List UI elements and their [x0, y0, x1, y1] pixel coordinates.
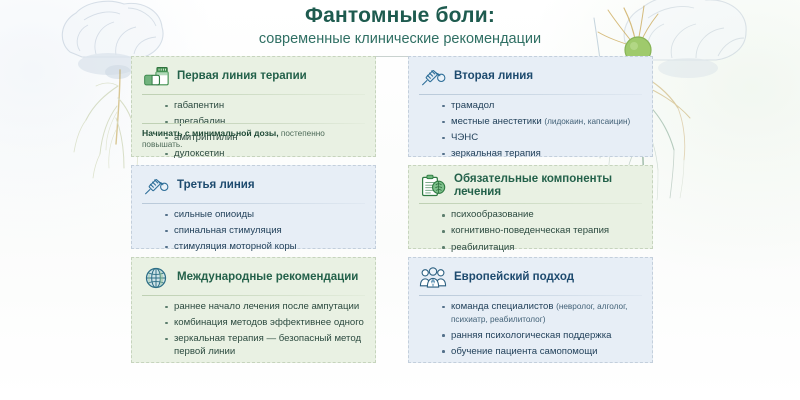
syringe-icon — [142, 173, 170, 199]
card-third-line: Третья линия сильные опиоиды спинальная … — [131, 165, 376, 249]
list-item-text: зеркальная терапия — [451, 148, 541, 159]
list-item: психообразование — [442, 209, 642, 222]
list-item-text: ранняя психологическая поддержка — [451, 330, 611, 341]
card-title: Вторая линия — [454, 70, 533, 83]
card-second-line: Вторая линия трамадол местные анестетики… — [408, 56, 653, 157]
list-item: трамадол — [442, 100, 642, 113]
list-item-text: обучение пациента самопомощи — [451, 346, 598, 357]
card-international-recommendations: Международные рекомендации раннее начало… — [131, 257, 376, 363]
card-first-line-therapy: Первая линия терапии габапентин прегабал… — [131, 56, 376, 157]
list-item-text: реабилитация — [451, 242, 515, 253]
page-subtitle: современные клинические рекомендации — [0, 31, 800, 48]
card-bullet-list: команда специалистов (невролог, алголог,… — [419, 301, 642, 358]
card-european-approach: Европейский подход команда специалистов … — [408, 257, 653, 363]
list-item-text: команда специалистов — [451, 301, 556, 312]
card-header: Обязательные компоненты лечения — [419, 173, 642, 203]
list-item: ЧЭНС — [442, 132, 642, 145]
list-item: стимуляция моторной коры — [165, 241, 365, 254]
list-item: комбинация методов эффективнее одного — [165, 317, 365, 330]
card-title: Третья линия — [177, 179, 255, 192]
medical-team-icon — [419, 265, 447, 291]
list-item: габапентин — [165, 100, 365, 113]
list-item: реабилитация — [442, 242, 642, 255]
list-item: ранняя психологическая поддержка — [442, 330, 642, 343]
card-title-divider — [142, 295, 365, 296]
card-note: Начинать с минимальной дозы, постепенно … — [142, 123, 365, 150]
card-title: Обязательные компоненты лечения — [454, 173, 642, 199]
card-title: Международные рекомендации — [177, 271, 358, 284]
list-item-text: ЧЭНС — [451, 132, 478, 143]
list-item-note: (лидокаин, капсаицин) — [544, 117, 630, 126]
list-item: раннее начало лечения после ампутации — [165, 301, 365, 314]
poster-header: Фантомные боли: современные клинические … — [0, 2, 800, 57]
list-item: спинальная стимуляция — [165, 225, 365, 238]
card-bullet-list: раннее начало лечения после ампутации ко… — [142, 301, 365, 358]
list-item-text: трамадол — [451, 100, 494, 111]
card-title-divider — [419, 295, 642, 296]
list-item-text: психообразование — [451, 209, 534, 220]
card-title: Первая линия терапии — [177, 70, 307, 83]
card-bullet-list: сильные опиоиды спинальная стимуляция ст… — [142, 209, 365, 254]
card-title-divider — [142, 94, 365, 95]
card-mandatory-components: Обязательные компоненты лечения психообр… — [408, 165, 653, 249]
card-header: Третья линия — [142, 173, 365, 203]
note-text: Начинать с минимальной дозы, постепенно … — [142, 128, 365, 150]
syringe-icon — [419, 64, 447, 90]
list-item: зеркальная терапия — безопасный метод пе… — [165, 333, 365, 358]
list-item: местные анестетики (лидокаин, капсаицин) — [442, 116, 642, 129]
list-item-text: раннее начало лечения после ампутации — [174, 301, 359, 312]
list-item-text: стимуляция моторной коры — [174, 241, 297, 252]
list-item-text: местные анестетики — [451, 116, 544, 127]
card-header: Международные рекомендации — [142, 265, 365, 295]
list-item: команда специалистов (невролог, алголог,… — [442, 301, 642, 326]
note-divider — [142, 123, 365, 124]
globe-icon — [142, 265, 170, 291]
list-item: дулоксетин — [165, 148, 365, 161]
note-strong: Начинать с минимальной дозы, — [142, 128, 279, 138]
page-title: Фантомные боли: — [0, 2, 800, 27]
card-header: Первая линия терапии — [142, 64, 365, 94]
list-item: сильные опиоиды — [165, 209, 365, 222]
list-item: когнитивно-поведенческая терапия — [442, 225, 642, 238]
list-item: зеркальная терапия — [442, 148, 642, 161]
card-title-divider — [419, 203, 642, 204]
list-item-text: спинальная стимуляция — [174, 225, 282, 236]
card-title-divider — [419, 94, 642, 95]
list-item-text: зеркальная терапия — безопасный метод пе… — [174, 333, 361, 357]
list-item-text: сильные опиоиды — [174, 209, 254, 220]
card-header: Вторая линия — [419, 64, 642, 94]
pill-bottle-icon — [142, 64, 170, 90]
clipboard-brain-icon — [419, 173, 447, 199]
list-item-text: габапентин — [174, 100, 224, 111]
infographic-poster: Фантомные боли: современные клинические … — [0, 0, 800, 400]
card-title-divider — [142, 203, 365, 204]
list-item-text: комбинация методов эффективнее одного — [174, 317, 364, 328]
card-bullet-list: трамадол местные анестетики (лидокаин, к… — [419, 100, 642, 161]
card-header: Европейский подход — [419, 265, 642, 295]
card-title: Европейский подход — [454, 271, 574, 284]
list-item-text: когнитивно-поведенческая терапия — [451, 225, 609, 236]
list-item: обучение пациента самопомощи — [442, 346, 642, 359]
recommendation-card-grid: Первая линия терапии габапентин прегабал… — [131, 56, 653, 363]
